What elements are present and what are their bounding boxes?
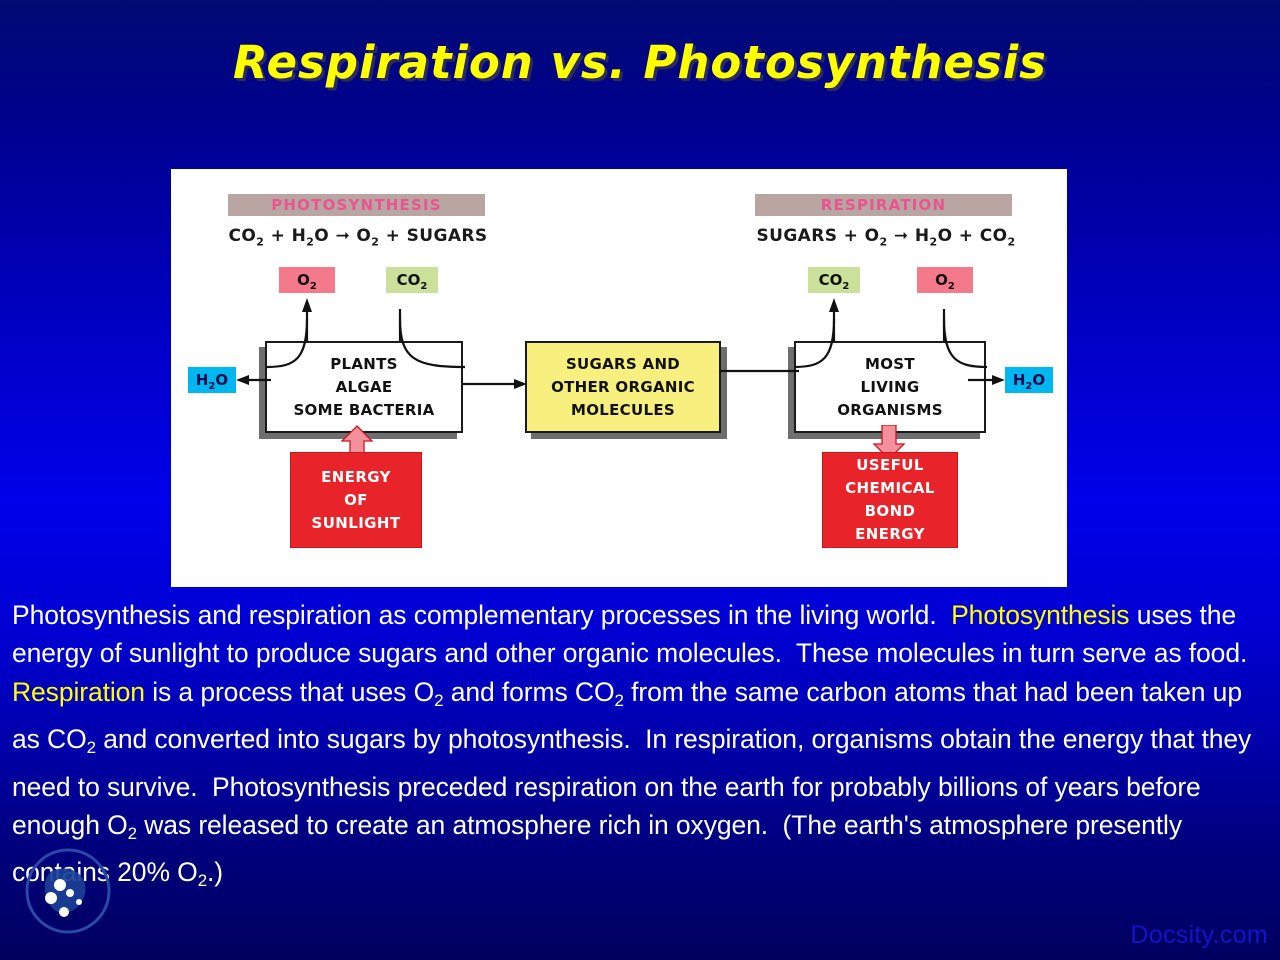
eq-plus-2: + SUGARS: [386, 226, 488, 246]
body-part-3b: and forms CO: [443, 677, 614, 707]
gas-chip-o2-left: O2: [279, 267, 335, 293]
sugars-box-line-2: OTHER ORGANIC: [551, 376, 695, 399]
respiration-equation: SUGARS + O2 ➞ H2O + CO2: [741, 226, 1031, 248]
respiration-header: RESPIRATION: [755, 194, 1012, 216]
eq-o2: O2: [356, 226, 379, 246]
highlight-photosynthesis: Photosynthesis: [951, 600, 1129, 630]
body-sub-2: 2: [614, 691, 623, 710]
body-part-3a: is a process that uses O: [145, 677, 434, 707]
sugars-box-line-3: MOLECULES: [571, 399, 675, 422]
chem-energy-line-4: ENERGY: [855, 523, 925, 546]
eq-arrow-icon-right: ➞: [894, 226, 915, 246]
highlight-respiration: Respiration: [12, 677, 145, 707]
eq-h2o-r: H2O: [915, 226, 953, 246]
eq-sugars: SUGARS +: [756, 226, 864, 246]
gas-chip-o2-right: O2: [917, 267, 973, 293]
eq-plus-r: +: [959, 226, 980, 246]
sugars-box-line-1: SUGARS AND: [566, 353, 680, 376]
energy-line-2: OF: [344, 489, 368, 512]
body-sub-3: 2: [87, 738, 96, 757]
gas-chip-co2-left: CO2: [386, 267, 438, 293]
eq-co2-r: CO2: [980, 226, 1016, 246]
eq-plus: +: [271, 226, 292, 246]
photosynthesis-header: PHOTOSYNTHESIS: [228, 194, 485, 216]
left-box-curved-connectors: [265, 319, 465, 439]
chem-energy-line-3: BOND: [865, 500, 916, 523]
useful-chemical-bond-energy-box: USEFUL CHEMICAL BOND ENERGY: [822, 452, 958, 548]
water-arrow-right-icon: [968, 369, 1008, 391]
water-arrow-left-icon: [233, 369, 273, 391]
chem-energy-line-1: USEFUL: [856, 454, 924, 477]
docsity-watermark-text: Docsity.com: [1130, 921, 1268, 950]
energy-line-3: SUNLIGHT: [312, 512, 401, 535]
sugars-box: SUGARS AND OTHER ORGANIC MOLECULES: [525, 341, 721, 433]
page-title: Respiration vs. Photosynthesis: [0, 36, 1280, 89]
eq-o2-r: O2: [865, 226, 888, 246]
water-chip-left: H2O: [188, 367, 236, 393]
body-paragraph: Photosynthesis and respiration as comple…: [12, 596, 1274, 901]
plants-to-sugars-arrow-icon: [461, 374, 529, 394]
slide-canvas: Respiration vs. Photosynthesis PHOTOSYNT…: [0, 0, 1280, 960]
eq-co2: CO2: [228, 226, 264, 246]
sugars-to-organisms-line: [719, 365, 801, 377]
body-part-3f: .): [207, 857, 223, 887]
eq-arrow-icon: ➞: [335, 226, 356, 246]
photosynthesis-equation: CO2 + H2O ➞ O2 + SUGARS: [213, 226, 503, 248]
body-part-1: Photosynthesis and respiration as comple…: [12, 600, 951, 630]
body-sub-4: 2: [128, 824, 137, 843]
eq-h2o: H2O: [292, 226, 330, 246]
diagram-panel: PHOTOSYNTHESIS CO2 + H2O ➞ O2 + SUGARS O…: [171, 169, 1067, 587]
right-box-curved-connectors: [794, 319, 989, 439]
energy-of-sunlight-box: ENERGY OF SUNLIGHT: [290, 452, 422, 548]
chem-energy-line-2: CHEMICAL: [845, 477, 935, 500]
water-chip-right: H2O: [1005, 367, 1053, 393]
docsity-molecule-logo: [22, 845, 114, 937]
body-sub-5: 2: [198, 871, 207, 890]
body-part-3e: was released to create an atmosphere ric…: [12, 810, 1189, 887]
gas-chip-co2-right: CO2: [808, 267, 860, 293]
energy-line-1: ENERGY: [321, 466, 391, 489]
